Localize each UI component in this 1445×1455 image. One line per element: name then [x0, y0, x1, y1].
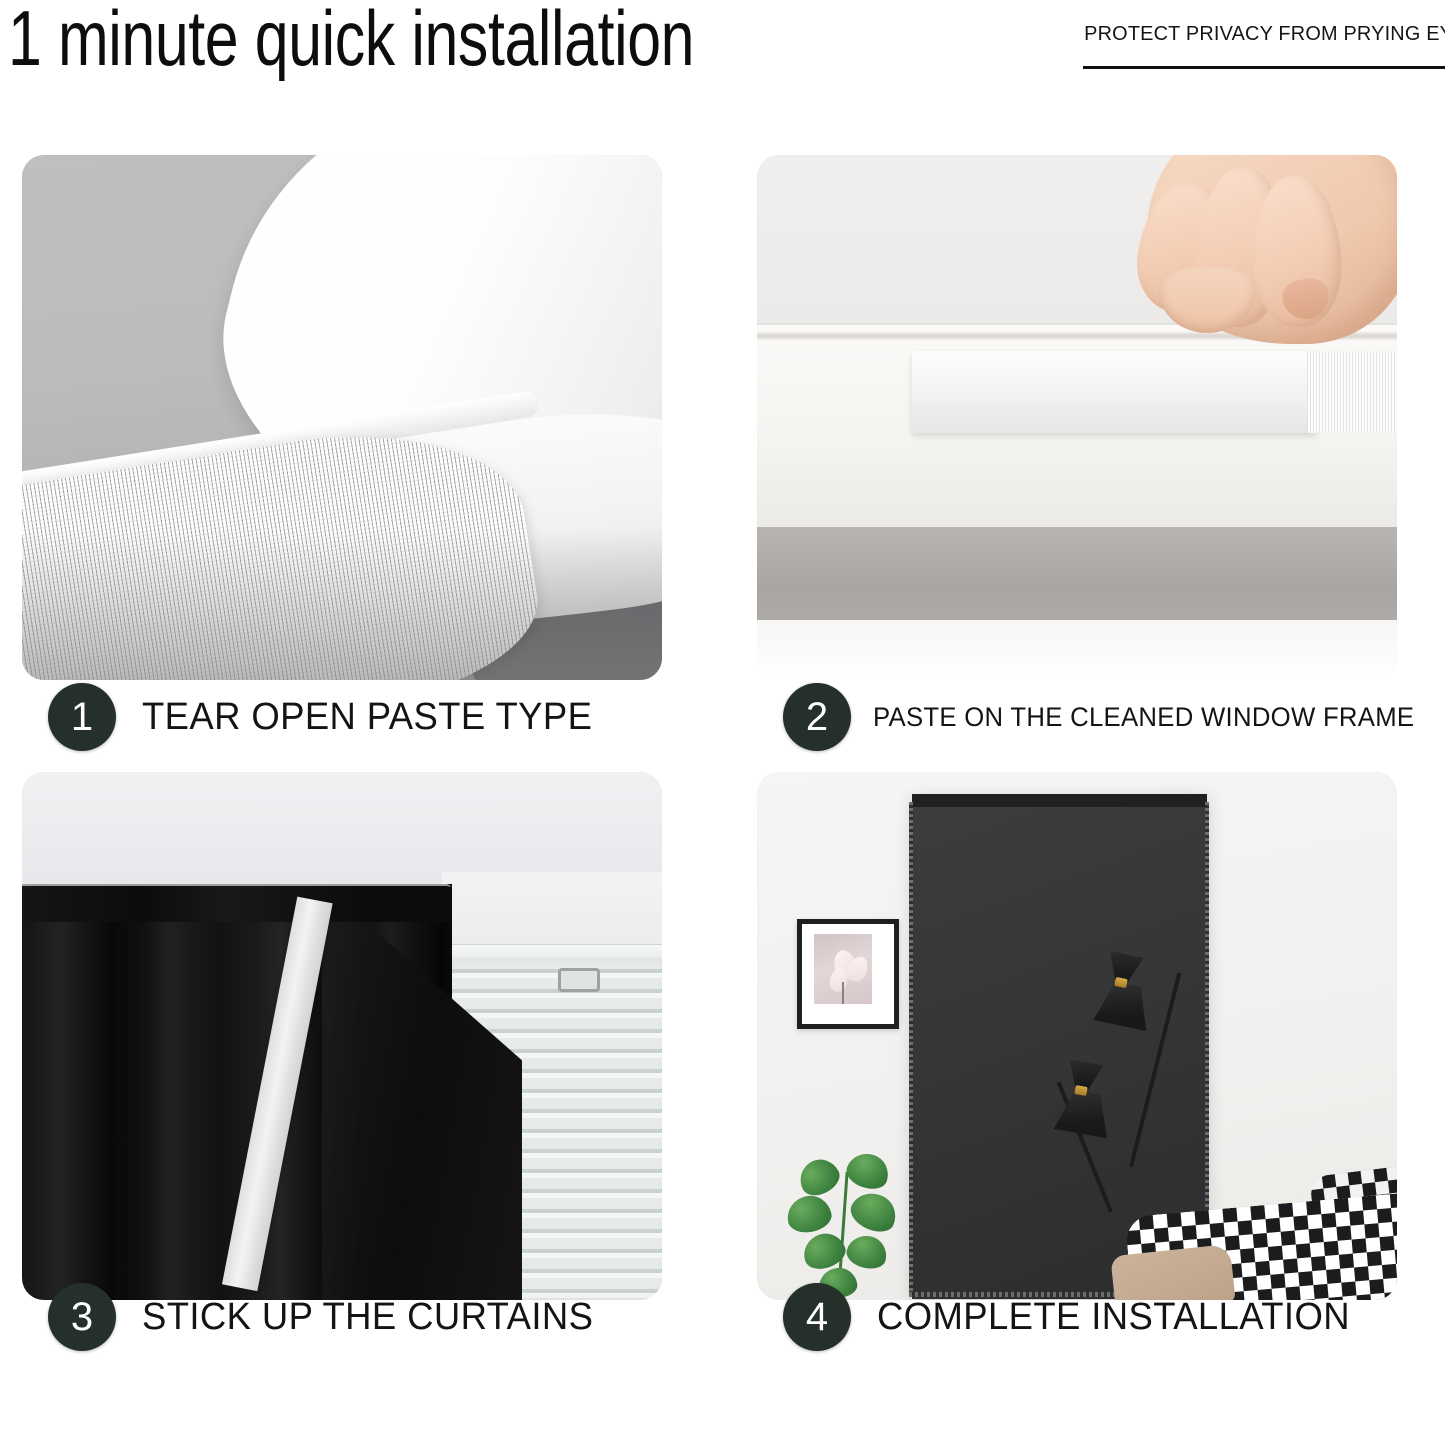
step-card-1: 1 TEAR OPEN PASTE TYPE [22, 155, 662, 755]
header: 1 minute quick installation PROTECT PRIV… [0, 0, 1445, 130]
photo-gloss-overlay [22, 884, 362, 1300]
step-card-4: 4 COMPLETE INSTALLATION [757, 772, 1397, 1372]
step-2-photo [757, 155, 1397, 680]
photo-plant-leaf [793, 1153, 844, 1202]
step-3-photo [22, 772, 662, 1300]
photo-framed-picture [797, 919, 899, 1029]
step-2-badge: 2 [783, 683, 851, 751]
step-card-3: 3 STICK UP THE CURTAINS [22, 772, 662, 1372]
photo-plant-leaf [843, 1148, 893, 1193]
photo-shade-bottom [22, 530, 662, 680]
photo-lamp-brass-lower [1074, 1085, 1087, 1096]
photo-floor [757, 620, 1397, 680]
step-2-caption-row: 2 PASTE ON THE CLEANED WINDOW FRAME [783, 683, 1431, 751]
photo-blind-headrail [912, 794, 1207, 807]
step-1-caption-row: 1 TEAR OPEN PASTE TYPE [48, 683, 611, 751]
photo-potted-plant [785, 1152, 915, 1300]
tagline-text: PROTECT PRIVACY FROM PRYING EYES [1084, 22, 1445, 46]
step-1-caption: TEAR OPEN PASTE TYPE [142, 698, 592, 736]
tagline-block: PROTECT PRIVACY FROM PRYING EYES [1073, 22, 1445, 46]
step-4-photo [757, 772, 1397, 1300]
photo-plant-leaf [844, 1232, 891, 1273]
photo-plant-leaf [784, 1192, 835, 1236]
step-3-caption-row: 3 STICK UP THE CURTAINS [48, 1283, 612, 1351]
photo-hand [1087, 155, 1387, 399]
photo-art-petal-3 [829, 967, 848, 993]
photo-framed-artwork [814, 934, 872, 1004]
step-2-caption: PASTE ON THE CLEANED WINDOW FRAME [873, 704, 1414, 731]
step-card-2: 2 PASTE ON THE CLEANED WINDOW FRAME [757, 155, 1397, 755]
step-1-photo [22, 155, 662, 680]
photo-blind-clip [558, 968, 600, 992]
photo-wall-bottom [757, 527, 1397, 632]
step-3-badge: 3 [48, 1283, 116, 1351]
step-4-badge: 4 [783, 1283, 851, 1351]
photo-plant-leaf [846, 1186, 903, 1238]
step-4-caption-row: 4 COMPLETE INSTALLATION [783, 1283, 1370, 1351]
step-1-badge: 1 [48, 683, 116, 751]
tagline-divider [1083, 66, 1445, 69]
step-4-caption: COMPLETE INSTALLATION [877, 1298, 1350, 1336]
page-title: 1 minute quick installation [8, 0, 694, 86]
step-3-caption: STICK UP THE CURTAINS [142, 1298, 593, 1336]
photo-art-stem [842, 982, 844, 1004]
